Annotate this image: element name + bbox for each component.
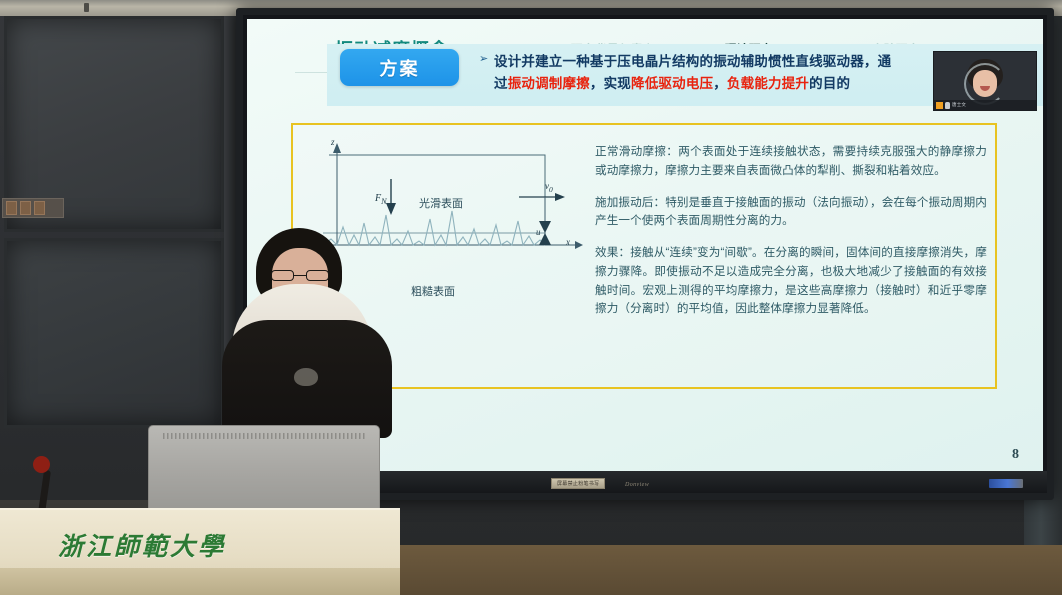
headline-prefix: 过 xyxy=(494,76,508,91)
paragraph-with-vibration: 施加振动后：特别是垂直于接触面的振动（法向振动），会在每个振动周期内产生一个使两… xyxy=(595,194,987,232)
scheme-badge-label: 方案 xyxy=(380,55,420,81)
diagram-label-normal-force: FN xyxy=(375,193,387,206)
headline-line-1: 设计并建立一种基于压电晶片结构的振动辅助惯性直线驱动器，通 xyxy=(494,50,891,70)
podium-edge xyxy=(0,568,400,595)
headline-suffix: 的目的 xyxy=(809,76,850,91)
headline-emphasis-3: 负载能力提升 xyxy=(727,76,809,91)
signage-cell xyxy=(34,201,45,215)
force-subscript: N xyxy=(381,197,387,206)
glasses-left-lens xyxy=(271,270,294,281)
display-status-indicator xyxy=(989,479,1023,488)
slide-page-number: 8 xyxy=(1012,447,1019,463)
diagram-label-axis-x: x xyxy=(566,237,570,247)
headline-line-2: 过振动调制摩擦，实现降低驱动电压，负载能力提升的目的 xyxy=(494,72,850,92)
webcam-overlay[interactable]: 唐士文 xyxy=(933,51,1037,111)
participant-avatar xyxy=(965,59,1005,103)
paragraph-effect: 效果：接触从“连续”变为“间歇”。在分离的瞬间，固体间的直接摩擦消失，摩擦力骤降… xyxy=(595,244,987,319)
jacket-logo xyxy=(294,368,318,386)
headline-mid: ，实现 xyxy=(590,76,631,91)
participant-name: 唐士文 xyxy=(952,102,966,108)
avatar-ring xyxy=(964,63,1006,105)
signage-cell xyxy=(20,201,31,215)
webcam-name-bar: 唐士文 xyxy=(934,100,1036,110)
microphone-head xyxy=(33,456,50,473)
laptop-vents xyxy=(163,433,367,439)
no-chalk-warning-label: 屏幕禁止粉笔书写 xyxy=(551,478,605,489)
presenter-laptop[interactable] xyxy=(148,425,380,520)
diagram-label-gap: u xyxy=(536,227,541,237)
presenter xyxy=(222,228,392,438)
diagram-label-smooth-surface: 光滑表面 xyxy=(419,195,463,211)
explanation-paragraphs: 正常滑动摩擦：两个表面处于连续接触状态，需要持续克服强大的静摩擦力或动摩擦力，摩… xyxy=(595,143,987,332)
signage-cell xyxy=(6,201,17,215)
left-chalkboard-lower xyxy=(4,238,224,428)
classroom-scene: 振动减摩概念 研究背景与意义 理论研究 实验研究 方案 ➢ 设计并建立一种基于压… xyxy=(0,0,1062,595)
bullet-arrow-icon: ➢ xyxy=(479,52,488,65)
diagram-label-rough-surface: 粗糙表面 xyxy=(411,283,455,299)
scheme-badge: 方案 xyxy=(340,49,459,86)
wall-signage xyxy=(2,198,64,218)
lecture-desk xyxy=(400,545,1062,595)
diagram-label-axis-z: z xyxy=(331,137,335,147)
host-flag-icon xyxy=(936,102,943,109)
glasses-right-lens xyxy=(306,270,329,281)
microphone-icon[interactable] xyxy=(945,102,950,109)
headline-mid-2: ， xyxy=(713,76,727,91)
velocity-subscript: 0 xyxy=(549,185,553,194)
university-name: 浙江師範大學 xyxy=(58,527,226,563)
diagram-label-velocity: v0 xyxy=(545,181,553,194)
headline-emphasis-1: 振动调制摩擦 xyxy=(508,76,590,91)
display-brand-label: Donview xyxy=(625,482,649,488)
glasses-bridge xyxy=(294,275,306,276)
paragraph-normal-friction: 正常滑动摩擦：两个表面处于连续接触状态，需要持续克服强大的静摩擦力或动摩擦力，摩… xyxy=(595,143,987,181)
glasses-icon xyxy=(271,270,329,281)
content-box: 光滑表面 粗糙表面 FN v0 u z x 正常滑动摩擦：两个表面处于连续接触状… xyxy=(291,123,997,389)
headline-emphasis-2: 降低驱动电压 xyxy=(631,76,713,91)
ceiling-fixture xyxy=(84,3,89,12)
